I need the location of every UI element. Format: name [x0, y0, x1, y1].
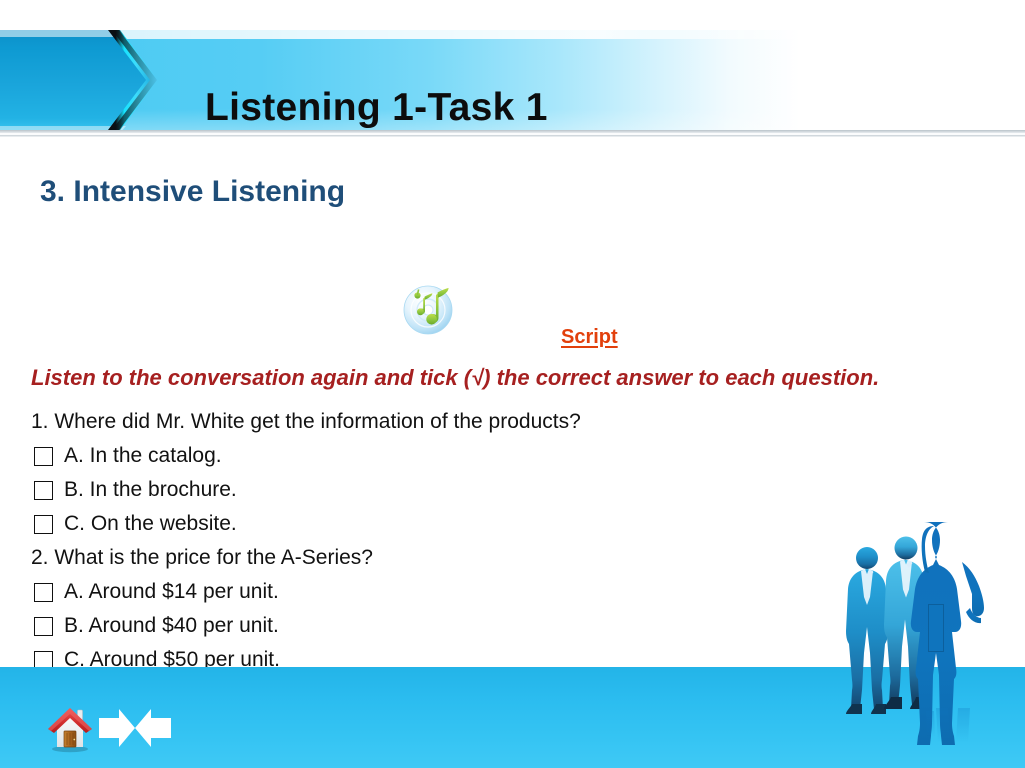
option-label: C. On the website.: [64, 507, 237, 541]
navigation-arrows: [98, 706, 172, 750]
instruction-text: Listen to the conversation again and tic…: [31, 365, 879, 391]
home-icon[interactable]: [42, 703, 98, 753]
option-label: A. In the catalog.: [64, 439, 222, 473]
banner-divider-line-3: [0, 135, 1025, 137]
silhouette-man-left: [846, 547, 888, 714]
business-people-silhouette: [838, 512, 1008, 762]
slide-canvas: Listening 1-Task 1 3. Intensive Listenin…: [0, 0, 1025, 768]
header-banner: Listening 1-Task 1: [0, 30, 1025, 135]
option-row[interactable]: C. On the website.: [31, 507, 581, 541]
question-block-2: 2. What is the price for the A-Series? A…: [31, 541, 373, 677]
page-title: Listening 1-Task 1: [205, 86, 548, 130]
option-row[interactable]: A. Around $14 per unit.: [31, 575, 373, 609]
arrow-right-icon[interactable]: [99, 709, 135, 747]
checkbox-icon[interactable]: [34, 481, 53, 500]
section-heading: 3. Intensive Listening: [40, 175, 345, 209]
music-cd-icon: [399, 280, 459, 340]
option-label: A. Around $14 per unit.: [64, 575, 279, 609]
option-label: B. Around $40 per unit.: [64, 609, 279, 643]
option-label: B. In the brochure.: [64, 473, 237, 507]
script-link[interactable]: Script: [561, 326, 618, 349]
question-text: 1. Where did Mr. White get the informati…: [31, 405, 581, 439]
checkbox-icon[interactable]: [34, 583, 53, 602]
checkbox-icon[interactable]: [34, 447, 53, 466]
silhouette-reflection: [926, 708, 970, 742]
option-row[interactable]: B. Around $40 per unit.: [31, 609, 373, 643]
checkbox-icon[interactable]: [34, 617, 53, 636]
question-block-1: 1. Where did Mr. White get the informati…: [31, 405, 581, 541]
option-row[interactable]: A. In the catalog.: [31, 439, 581, 473]
option-row[interactable]: B. In the brochure.: [31, 473, 581, 507]
arrow-left-icon[interactable]: [135, 709, 171, 747]
banner-top-highlight: [0, 30, 1025, 39]
checkbox-icon[interactable]: [34, 515, 53, 534]
question-text: 2. What is the price for the A-Series?: [31, 541, 373, 575]
